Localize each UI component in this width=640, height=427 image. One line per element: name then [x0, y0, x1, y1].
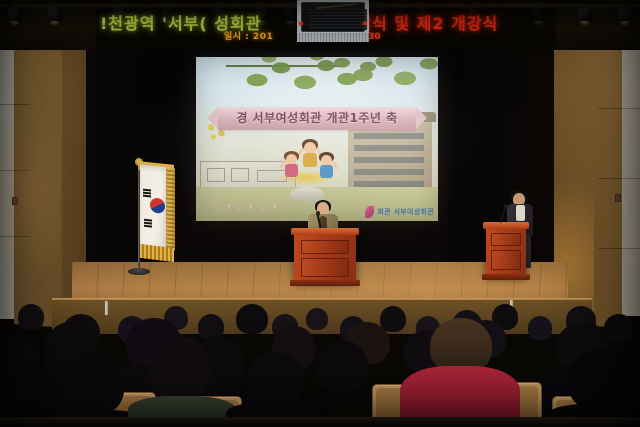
right-podium [486, 222, 526, 276]
wall-panel-divider [598, 178, 640, 179]
led-part-6: 제2 [417, 14, 445, 33]
presentation-slide: 경 서부여성회관 개관1주년 축 회관 서부여성회관 [196, 57, 438, 221]
trigram-mark [143, 189, 151, 191]
cartoon-child-left [282, 151, 301, 179]
audience-head-ponytail [150, 336, 210, 402]
stage-light-icon [576, 2, 593, 28]
audience-head [18, 304, 44, 330]
led-part-3: 성회관 [214, 14, 261, 33]
trigram-mark [144, 219, 152, 221]
led-part-1: !천광역 [100, 14, 155, 33]
audience-head-front [58, 354, 124, 416]
leafy-branch-icon [324, 57, 438, 103]
projection-screen: 경 서부여성회관 개관1주년 축 회관 서부여성회관 [196, 57, 438, 221]
audience-head-front [246, 352, 304, 408]
podium-panel [491, 250, 521, 270]
audio-equipment-rack [297, 0, 369, 42]
sketch-window [207, 168, 225, 182]
led-part-2: '서부( [162, 14, 208, 33]
slide-ribbon-banner: 경 서부여성회관 개관1주년 축 [218, 107, 416, 130]
microphone-icon [504, 204, 508, 209]
building-window-row [354, 133, 424, 139]
building-window-row [354, 157, 424, 163]
auditorium-scene: 경 서부여성회관 개관1주년 축 회관 서부여성회관 [0, 0, 640, 427]
trigram-mark [143, 195, 151, 197]
trigram-mark [144, 222, 152, 224]
led-part-5: 및 [394, 14, 410, 33]
slide-flowers [214, 203, 288, 213]
slide-logo-text: 회관 서부여성회관 [377, 207, 434, 217]
audience-head [528, 316, 552, 340]
left-wall-light-glow [0, 110, 60, 280]
audience-head [0, 334, 40, 378]
podium-base [290, 280, 360, 286]
child-body [303, 153, 317, 167]
flag-stand-base [128, 268, 150, 275]
wall-panel-divider [598, 108, 640, 109]
wall-outlet [615, 194, 621, 202]
taeguk-symbol-icon [150, 197, 165, 214]
rack-indicator-led [299, 22, 303, 25]
slide-logo: 회관 서부여성회관 [365, 206, 434, 218]
podium-panel [491, 233, 521, 246]
audience-head-front [316, 340, 368, 392]
podium-top-edge [483, 222, 529, 229]
wall-panel-divider [598, 248, 640, 249]
slide-rock [290, 187, 324, 201]
led-part-7: 개강식 [451, 14, 498, 33]
audience-head [306, 308, 328, 330]
microphone-icon [316, 211, 320, 216]
building-window-row [354, 145, 424, 151]
led-banner-date: 일시 : 201 [224, 32, 273, 43]
child-body [285, 164, 298, 177]
stage-light-icon [46, 2, 63, 28]
school-building-illustration [348, 119, 432, 197]
audience-seating [0, 300, 640, 427]
building-window-row [354, 169, 424, 175]
cartoon-children-group [280, 139, 338, 179]
slide-ribbon-text: 경 서부여성회관 개관1주년 축 [218, 107, 416, 130]
rack-indicator-led [363, 22, 367, 25]
podium-top-edge [291, 228, 359, 235]
audience-head [236, 304, 268, 334]
child-body [320, 165, 333, 178]
speaker-shirt [516, 205, 525, 221]
rack-base [297, 33, 369, 42]
rack-face [301, 2, 365, 32]
cartoon-child-right [317, 152, 336, 180]
sketch-window [231, 168, 249, 182]
trigram-mark [144, 225, 152, 227]
trigram-mark [143, 192, 151, 194]
logo-mark-icon [365, 206, 374, 218]
audience-head-front [568, 348, 640, 412]
flag-side-fringe [166, 168, 175, 251]
podium-panel [301, 240, 349, 254]
stage-light-icon [616, 2, 633, 28]
center-podium [294, 228, 356, 282]
podium-panel [301, 258, 349, 277]
stage-light-icon [6, 2, 23, 28]
audience-floor-strip [0, 417, 640, 427]
wall-panel-divider [0, 104, 30, 105]
